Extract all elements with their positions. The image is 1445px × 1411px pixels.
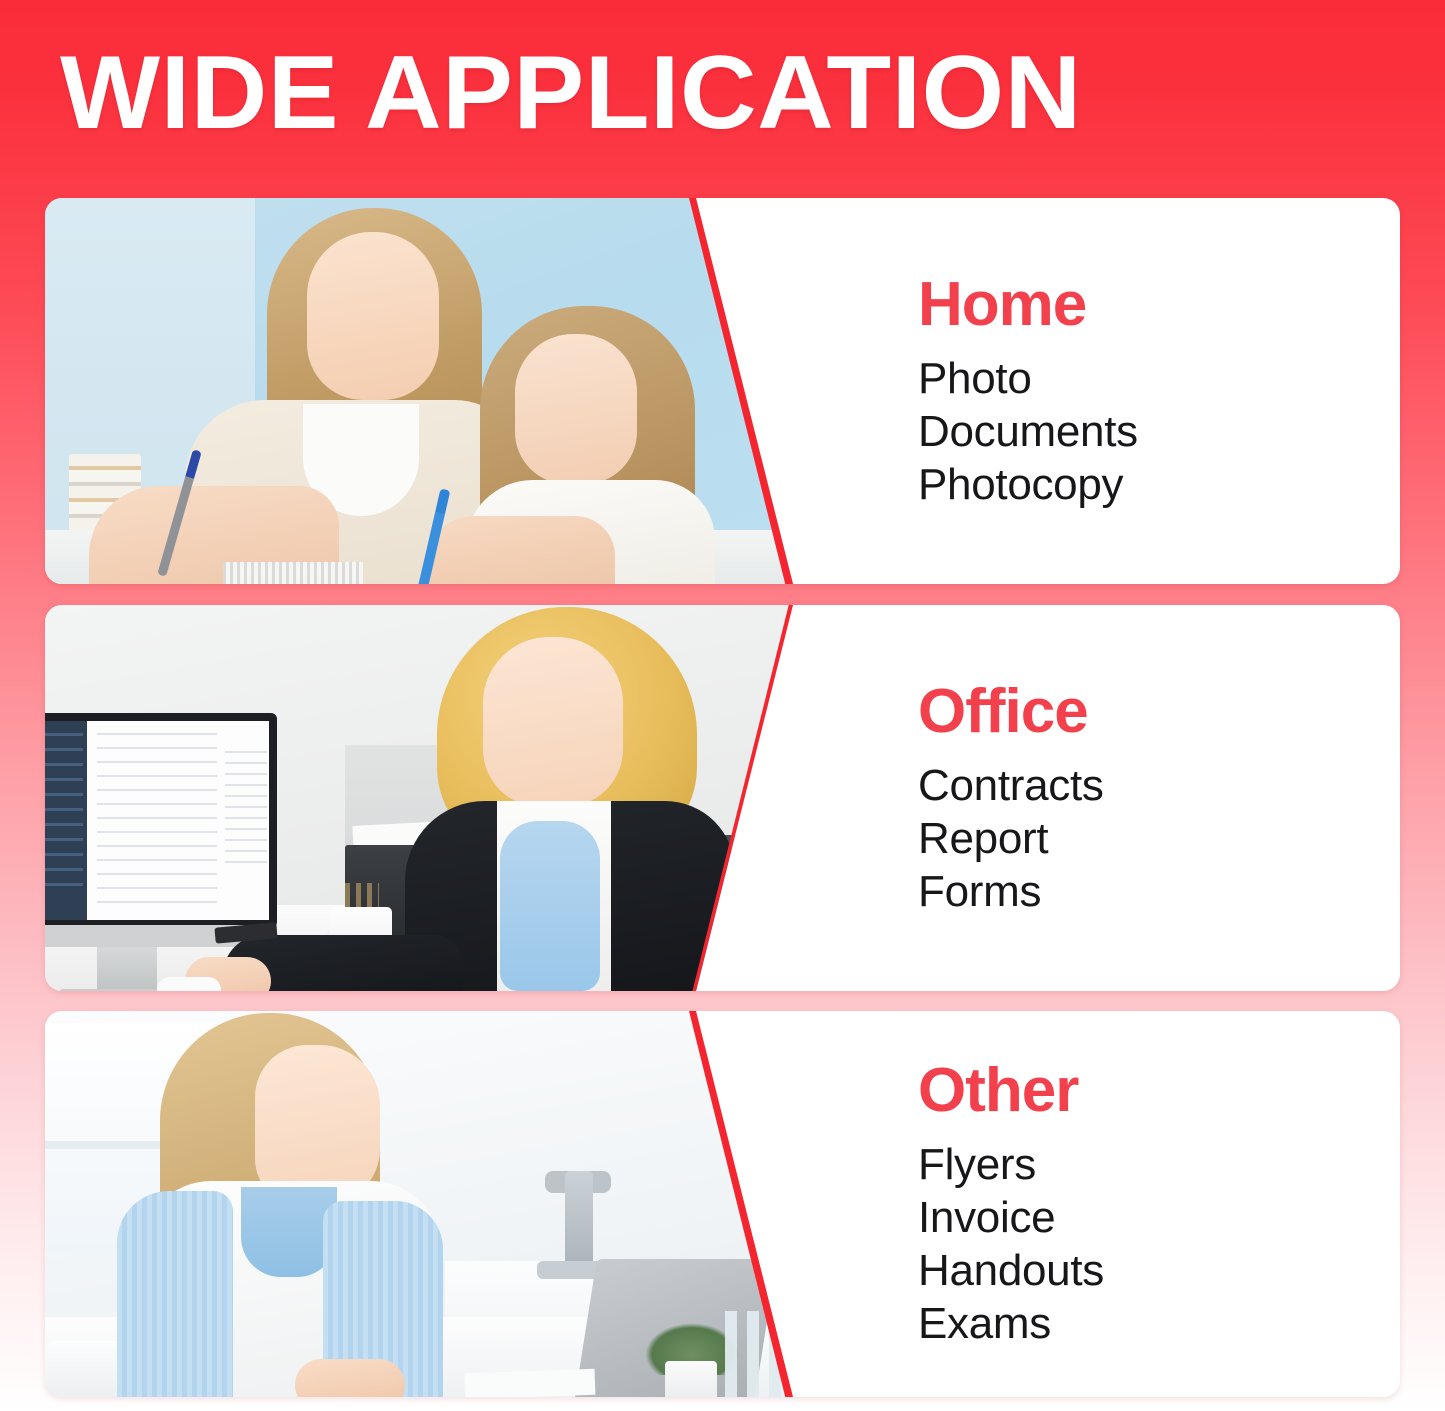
- card-list: Contracts Report Forms: [918, 759, 1400, 918]
- list-item: Flyers: [918, 1138, 1400, 1191]
- list-item: Documents: [918, 405, 1400, 458]
- text-panel-other: Other Flyers Invoice Handouts Exams: [800, 1011, 1400, 1397]
- paper-sheet: [465, 1369, 596, 1397]
- woman-face: [483, 637, 623, 807]
- card-heading: Office: [918, 679, 1400, 745]
- list-item: Invoice: [918, 1191, 1400, 1244]
- text-panel-office: Office Contracts Report Forms: [800, 605, 1400, 991]
- list-item: Handouts: [918, 1244, 1400, 1297]
- photo-other: [45, 1011, 845, 1397]
- monitor-stand: [97, 947, 157, 991]
- photo-office: [45, 605, 845, 991]
- list-item: Photocopy: [918, 458, 1400, 511]
- girl-face: [515, 334, 637, 484]
- list-item: Contracts: [918, 759, 1400, 812]
- wide-application-poster: WIDE APPLICATION Home Photo Documen: [0, 0, 1445, 1411]
- screen-document-column: [225, 751, 267, 871]
- microscope-body: [565, 1171, 593, 1271]
- woman-face: [307, 232, 439, 400]
- list-item: Photo: [918, 352, 1400, 405]
- screen-sidebar-rows: [45, 733, 83, 893]
- card-heading: Other: [918, 1058, 1400, 1124]
- woman-cardigan-left: [117, 1191, 233, 1397]
- computer-mouse: [157, 977, 221, 991]
- card-list: Photo Documents Photocopy: [918, 352, 1400, 511]
- screen-document: [97, 733, 217, 913]
- notepad: [223, 562, 363, 584]
- list-item: Forms: [918, 865, 1400, 918]
- application-card-other: Other Flyers Invoice Handouts Exams: [45, 1011, 1400, 1397]
- photo-home: [45, 198, 845, 584]
- card-list: Flyers Invoice Handouts Exams: [918, 1138, 1400, 1350]
- application-card-home: Home Photo Documents Photocopy: [45, 198, 1400, 584]
- list-item: Exams: [918, 1297, 1400, 1350]
- woman-blue-bow: [500, 821, 600, 991]
- girl-arm: [425, 516, 615, 584]
- page-title: WIDE APPLICATION: [60, 34, 1406, 152]
- text-panel-home: Home Photo Documents Photocopy: [800, 198, 1400, 584]
- application-card-office: Office Contracts Report Forms: [45, 605, 1400, 991]
- woman-clasped-hands: [295, 1359, 405, 1397]
- list-item: Report: [918, 812, 1400, 865]
- plant-pot: [665, 1361, 717, 1397]
- card-heading: Home: [918, 272, 1400, 338]
